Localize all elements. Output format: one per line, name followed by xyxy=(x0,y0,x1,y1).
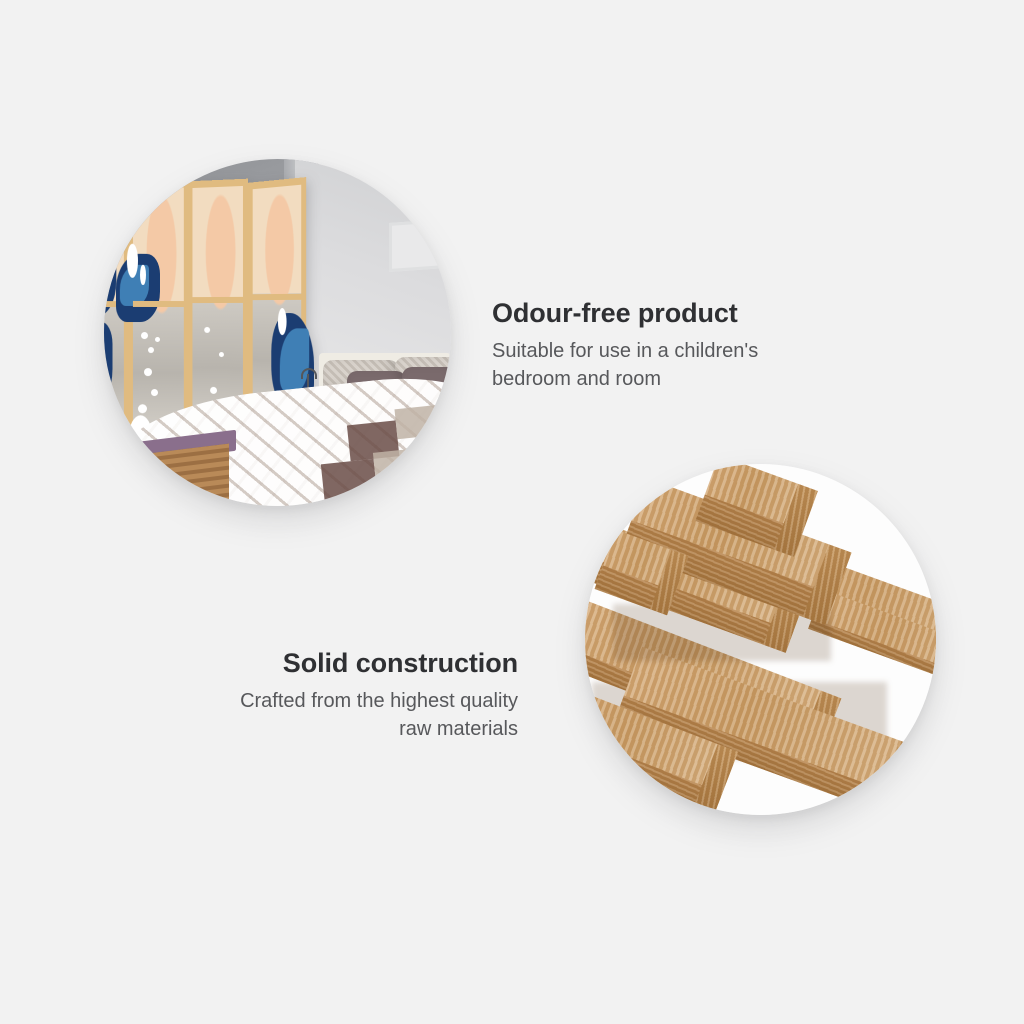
infographic-canvas: Odour-free product Suitable for use in a… xyxy=(0,0,1024,1024)
feature-description: Suitable for use in a children's bedroom… xyxy=(492,337,852,394)
feature-image-solid-construction xyxy=(585,464,936,815)
feature-title: Odour-free product xyxy=(492,298,852,330)
feature-caption-solid-construction: Solid construction Crafted from the high… xyxy=(158,648,518,744)
feature-description: Crafted from the highest quality raw mat… xyxy=(158,687,518,744)
picture-frame-icon xyxy=(389,220,445,272)
feature-caption-odour-free: Odour-free product Suitable for use in a… xyxy=(492,298,852,394)
wave-artwork xyxy=(133,186,184,446)
feature-title: Solid construction xyxy=(158,648,518,680)
timber-stack-scene xyxy=(585,464,936,815)
feature-image-odour-free xyxy=(104,159,451,506)
bedroom-scene xyxy=(104,159,451,506)
